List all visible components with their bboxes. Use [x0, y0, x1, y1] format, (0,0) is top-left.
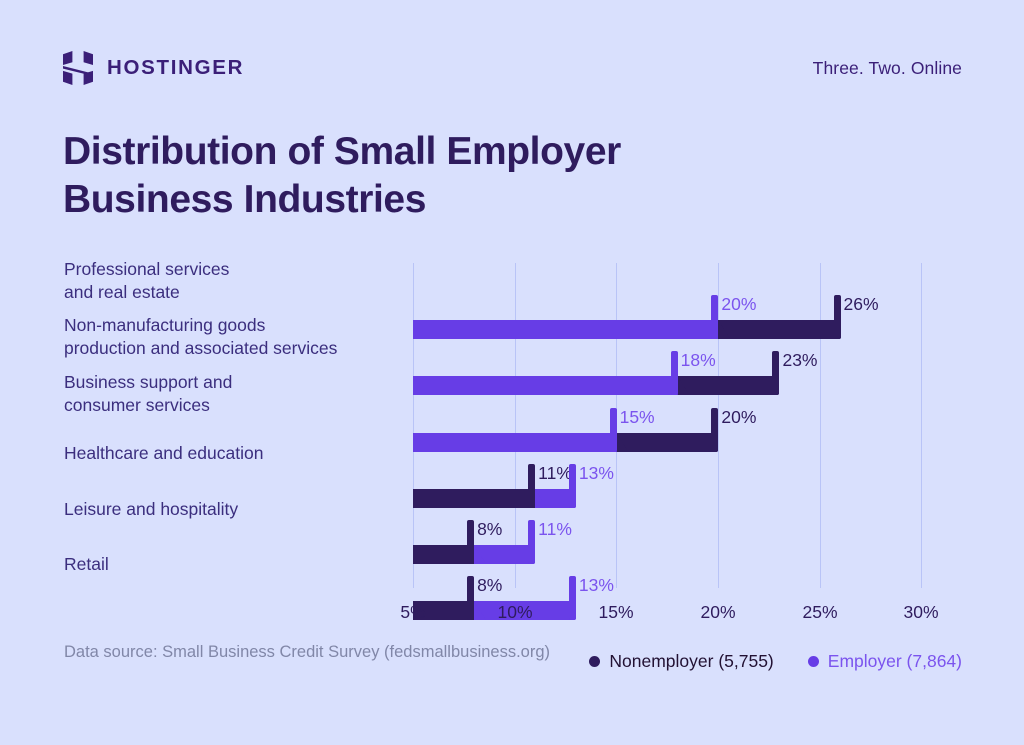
- bar-group-row: 8%11%: [413, 508, 922, 564]
- brand-tagline: Three. Two. Online: [813, 58, 962, 79]
- bar-end-riser: [610, 408, 617, 452]
- bar-end-riser: [528, 520, 535, 564]
- chart-plot-area: 26%20%23%18%20%15%11%13%8%11%8%13%: [413, 263, 922, 588]
- legend-label: Employer (7,864): [828, 653, 962, 671]
- bar-value-label: 20%: [721, 296, 756, 314]
- bar-segment: [413, 489, 535, 508]
- bar-value-label: 15%: [620, 409, 655, 427]
- bar-segment: [413, 545, 474, 564]
- page-header: HOSTINGER Three. Two. Online: [63, 48, 962, 88]
- bar-group-row: 23%18%: [413, 339, 922, 395]
- x-axis: 5% 10% 15% 20% 25% 30%: [413, 602, 922, 626]
- brand-name: HOSTINGER: [107, 58, 244, 79]
- brand: HOSTINGER: [63, 51, 244, 85]
- page-title: Distribution of Small Employer Business …: [63, 128, 763, 225]
- bar-value-label: 26%: [844, 296, 879, 314]
- bar-segment: [413, 320, 718, 339]
- bar-group-row: 26%20%: [413, 283, 922, 339]
- bar-value-label: 18%: [681, 352, 716, 370]
- x-axis-tick: 25%: [802, 602, 837, 623]
- category-label: Healthcare and education: [64, 442, 263, 465]
- bar-value-label: 11%: [538, 465, 572, 483]
- category-label: Leisure and hospitality: [64, 498, 238, 521]
- bar-value-label: 8%: [477, 521, 502, 539]
- legend-item-employer: Employer (7,864): [808, 653, 962, 671]
- category-label: Business support and consumer services: [64, 371, 232, 418]
- bar-segment: [413, 433, 617, 452]
- x-axis-tick: 5%: [400, 602, 425, 623]
- bar-end-riser: [671, 351, 678, 395]
- bar-group-row: 20%15%: [413, 396, 922, 452]
- bar-rows: 26%20%23%18%20%15%11%13%8%11%8%13%: [413, 263, 922, 588]
- bar-end-riser: [711, 295, 718, 339]
- category-label: Non-manufacturing goods production and a…: [64, 314, 337, 361]
- bar-value-label: 13%: [579, 577, 614, 595]
- bar-value-label: 23%: [782, 352, 817, 370]
- bar-group-row: 11%13%: [413, 452, 922, 508]
- bar-value-label: 13%: [579, 465, 614, 483]
- category-label: Professional services and real estate: [64, 258, 229, 305]
- hostinger-h-logo-icon: [63, 51, 93, 85]
- bar-end-riser: [528, 464, 535, 508]
- legend-label: Nonemployer (5,755): [609, 653, 773, 671]
- x-axis-tick: 20%: [700, 602, 735, 623]
- bar-end-riser: [711, 408, 718, 452]
- x-axis-tick: 15%: [598, 602, 633, 623]
- category-label: Retail: [64, 553, 109, 576]
- bar-end-riser: [772, 351, 779, 395]
- bar-segment: [413, 376, 678, 395]
- chart-legend: Nonemployer (5,755) Employer (7,864): [589, 653, 962, 671]
- legend-item-nonemployer: Nonemployer (5,755): [589, 653, 773, 671]
- bar-end-riser: [467, 520, 474, 564]
- data-source-note: Data source: Small Business Credit Surve…: [64, 641, 550, 664]
- bar-end-riser: [834, 295, 841, 339]
- legend-swatch-icon: [808, 656, 819, 667]
- bar-value-label: 8%: [477, 577, 502, 595]
- x-axis-tick: 30%: [903, 602, 938, 623]
- x-axis-tick: 10%: [497, 602, 532, 623]
- bar-value-label: 11%: [538, 521, 572, 539]
- bar-value-label: 20%: [721, 409, 756, 427]
- bar-end-riser: [569, 464, 576, 508]
- legend-swatch-icon: [589, 656, 600, 667]
